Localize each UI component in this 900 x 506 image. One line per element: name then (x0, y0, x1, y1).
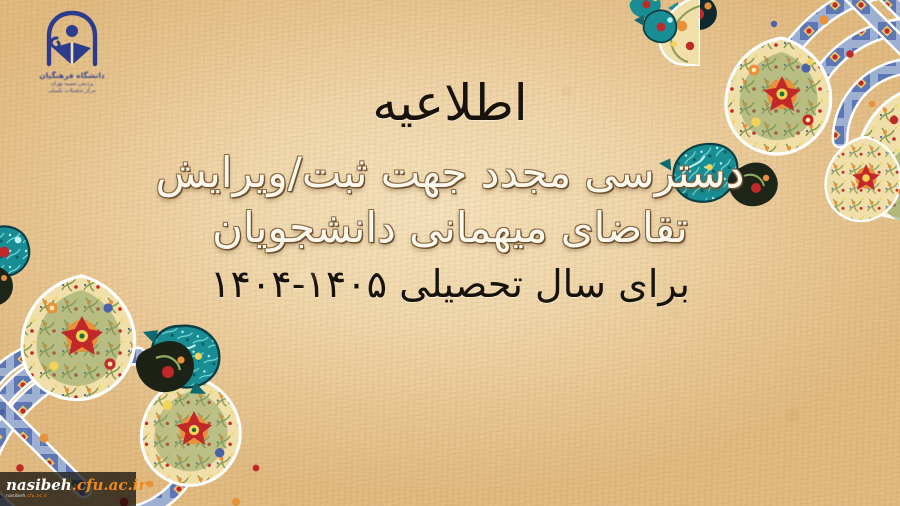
announcement-poster: دانشگاه فرهنگیان پردیس نسیبه تهران مرکز … (0, 0, 900, 506)
watermark-url-small: nasibeh.cfu.ac.ir (6, 494, 136, 500)
poster-line-1: دسترسی مجدد جهت ثبت/ویرایش (156, 148, 745, 197)
watermark-small-domain: .cfu.ac.ir (25, 494, 47, 499)
site-watermark: nasibeh.cfu.ac.ir nasibeh.cfu.ac.ir (0, 472, 136, 506)
watermark-site-name: nasibeh (6, 476, 72, 494)
watermark-small-name: nasibeh (6, 494, 25, 499)
poster-text-content: اطلاعیه دسترسی مجدد جهت ثبت/ویرایش تقاضا… (0, 0, 900, 506)
poster-line-3: برای سال تحصیلی ۱۴۰۵-۱۴۰۴ (210, 262, 690, 306)
poster-line-2: تقاضای میهمانی دانشجویان (212, 203, 688, 252)
page-title: اطلاعیه (372, 74, 527, 132)
watermark-url: nasibeh.cfu.ac.ir (6, 478, 136, 493)
watermark-site-domain: .cfu.ac.ir (72, 476, 147, 494)
